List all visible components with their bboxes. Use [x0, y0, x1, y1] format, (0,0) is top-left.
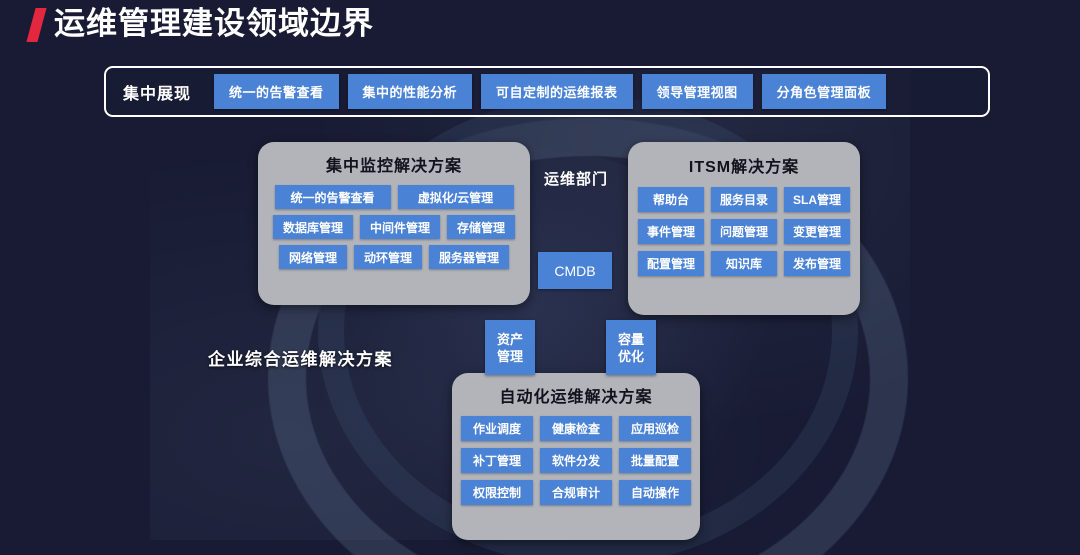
node-asset-management[interactable]: 资产 管理: [485, 320, 535, 375]
panel-title-centralized-monitoring: 集中监控解决方案: [258, 152, 530, 176]
chip-database-management[interactable]: 数据库管理: [273, 215, 353, 239]
chip-sla-management[interactable]: SLA管理: [784, 187, 850, 212]
slide-header: 运维管理建设领域边界: [0, 0, 1080, 54]
accent-slash-icon: [26, 8, 46, 42]
label-enterprise-solution: 企业综合运维解决方案: [208, 345, 393, 370]
chip-grid-centralized-monitoring: 统一的告警查看 虚拟化/云管理 数据库管理 中间件管理 存储管理 网络管理 动环…: [258, 185, 530, 269]
panel-itsm: ITSM解决方案 帮助台 服务目录 SLA管理 事件管理 问题管理 变更管理 配…: [628, 142, 860, 315]
topbar-button-leader-view[interactable]: 领导管理视图: [642, 74, 753, 109]
chip-middleware-management[interactable]: 中间件管理: [360, 215, 440, 239]
chip-release-management[interactable]: 发布管理: [784, 251, 850, 276]
chip-server-management[interactable]: 服务器管理: [429, 245, 509, 269]
chip-unified-alarm-view[interactable]: 统一的告警查看: [275, 185, 391, 209]
chip-environment-management[interactable]: 动环管理: [354, 245, 422, 269]
chip-change-management[interactable]: 变更管理: [784, 219, 850, 244]
chip-batch-configuration[interactable]: 批量配置: [619, 448, 691, 473]
node-capacity-line2: 优化: [618, 348, 644, 365]
chip-health-check[interactable]: 健康检查: [540, 416, 612, 441]
panel-title-automation: 自动化运维解决方案: [452, 383, 700, 407]
chip-patch-management[interactable]: 补丁管理: [461, 448, 533, 473]
chip-compliance-audit[interactable]: 合规审计: [540, 480, 612, 505]
chip-job-scheduling[interactable]: 作业调度: [461, 416, 533, 441]
slide-canvas: 运维管理建设领域边界 集中展现 统一的告警查看 集中的性能分析 可自定制的运维报…: [0, 0, 1080, 555]
chip-configuration-management[interactable]: 配置管理: [638, 251, 704, 276]
chip-grid-automation: 作业调度 健康检查 应用巡检 补丁管理 软件分发 批量配置 权限控制 合规审计 …: [452, 416, 700, 505]
label-operations-department: 运维部门: [536, 168, 616, 189]
chip-storage-management[interactable]: 存储管理: [447, 215, 515, 239]
chip-service-catalog[interactable]: 服务目录: [711, 187, 777, 212]
page-title: 运维管理建设领域边界: [54, 4, 374, 44]
node-capacity-line1: 容量: [618, 331, 644, 348]
chip-problem-management[interactable]: 问题管理: [711, 219, 777, 244]
topbar-button-unified-alarm[interactable]: 统一的告警查看: [214, 74, 339, 109]
panel-centralized-monitoring: 集中监控解决方案 统一的告警查看 虚拟化/云管理 数据库管理 中间件管理 存储管…: [258, 142, 530, 305]
chip-incident-management[interactable]: 事件管理: [638, 219, 704, 244]
topbar-button-role-panel[interactable]: 分角色管理面板: [762, 74, 887, 109]
panel-automation: 自动化运维解决方案 作业调度 健康检查 应用巡检 补丁管理 软件分发 批量配置 …: [452, 373, 700, 540]
chip-software-distribution[interactable]: 软件分发: [540, 448, 612, 473]
chip-virtualization-cloud[interactable]: 虚拟化/云管理: [398, 185, 514, 209]
node-asset-line2: 管理: [497, 348, 523, 365]
centralized-display-label: 集中展现: [115, 80, 205, 104]
chip-grid-itsm: 帮助台 服务目录 SLA管理 事件管理 问题管理 变更管理 配置管理 知识库 发…: [628, 187, 860, 276]
node-asset-line1: 资产: [497, 331, 523, 348]
centralized-display-bar: 集中展现 统一的告警查看 集中的性能分析 可自定制的运维报表 领导管理视图 分角…: [104, 66, 990, 117]
panel-title-itsm: ITSM解决方案: [628, 153, 860, 177]
chip-knowledge-base[interactable]: 知识库: [711, 251, 777, 276]
topbar-button-performance-analysis[interactable]: 集中的性能分析: [348, 74, 473, 109]
chip-automatic-operation[interactable]: 自动操作: [619, 480, 691, 505]
chip-network-management[interactable]: 网络管理: [279, 245, 347, 269]
topbar-button-custom-report[interactable]: 可自定制的运维报表: [481, 74, 633, 109]
chip-application-inspection[interactable]: 应用巡检: [619, 416, 691, 441]
node-cmdb[interactable]: CMDB: [538, 252, 612, 289]
node-capacity-optimization[interactable]: 容量 优化: [606, 320, 656, 375]
chip-permission-control[interactable]: 权限控制: [461, 480, 533, 505]
chip-helpdesk[interactable]: 帮助台: [638, 187, 704, 212]
